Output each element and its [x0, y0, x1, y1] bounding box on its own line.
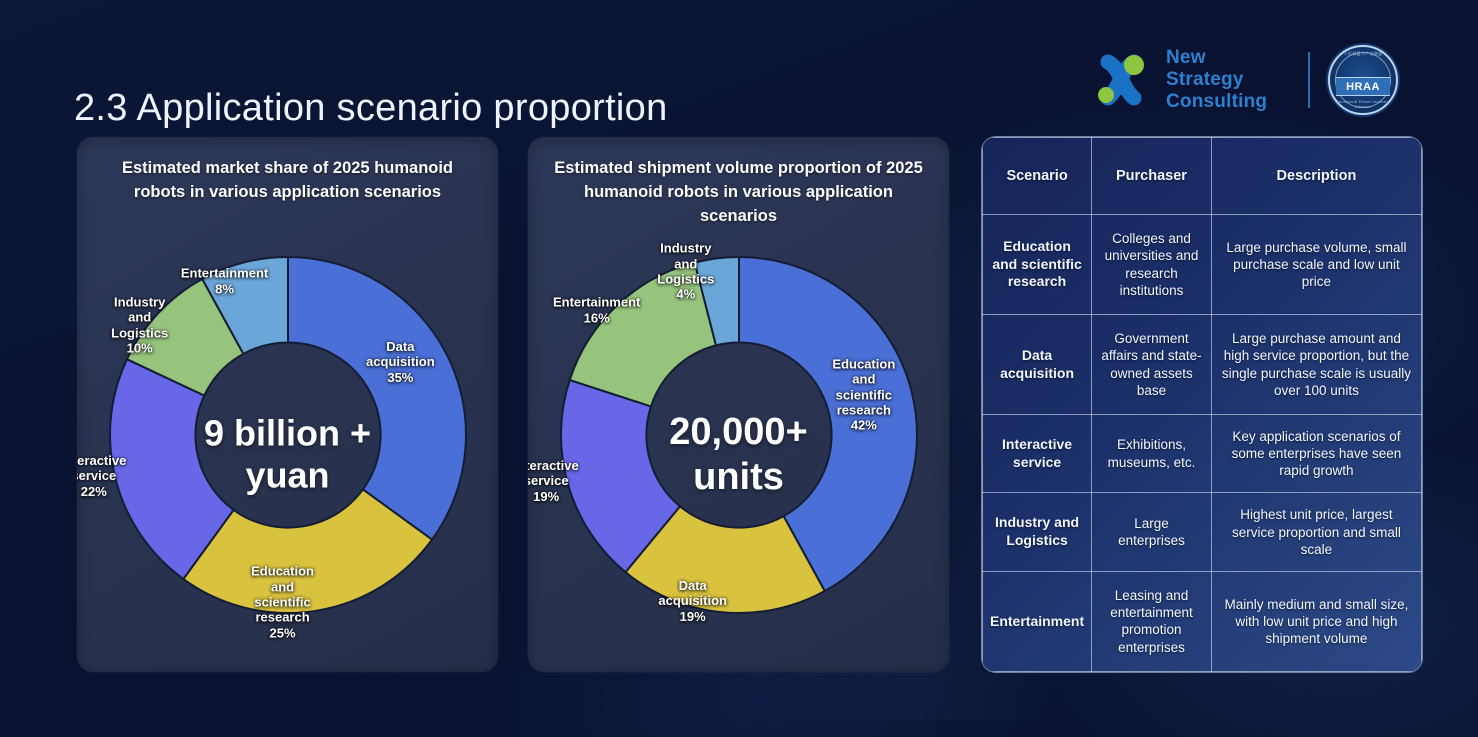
table-row: Interactive serviceExhibitions, museums,…	[983, 415, 1422, 493]
logo-line-2: Consulting	[1166, 91, 1286, 113]
logo-divider	[1308, 52, 1310, 108]
table-header-purchaser: Purchaser	[1092, 138, 1212, 215]
hraa-badge-bottom-text: Humanoid Robot Industry Alliance	[1330, 99, 1396, 109]
cell-scenario: Education and scientific research	[983, 215, 1092, 315]
cell-description: Large purchase amount and high service p…	[1211, 315, 1421, 415]
chart-1-donut-area: 9 billion +yuan Data acquisition 35%Educ…	[77, 255, 498, 655]
scenario-table: Scenario Purchaser Description Education…	[982, 137, 1422, 672]
shipment-volume-donut	[559, 255, 919, 615]
table-header-row: Scenario Purchaser Description	[983, 138, 1422, 215]
market-share-donut	[108, 255, 468, 615]
pie-slice	[569, 263, 715, 407]
shipment-volume-chart-card: Estimated shipment volume proportion of …	[528, 137, 949, 672]
cell-description: Large purchase volume, small purchase sc…	[1211, 215, 1421, 315]
chart-2-donut-area: 20,000+units Education and scientific re…	[528, 255, 949, 655]
hraa-badge-icon: 人形机器人产业联盟 HRAA Humanoid Robot Industry A…	[1328, 45, 1398, 115]
brand-logo: New Strategy Consulting 人形机器人产业联盟 HRAA H…	[1088, 42, 1398, 118]
logo-line-1: New Strategy	[1166, 47, 1286, 91]
cell-description: Key application scenarios of some enterp…	[1211, 415, 1421, 493]
market-share-chart-card: Estimated market share of 2025 humanoid …	[77, 137, 498, 672]
cell-scenario: Interactive service	[983, 415, 1092, 493]
hraa-badge-top-text: 人形机器人产业联盟	[1330, 51, 1396, 57]
table-row: Education and scientific researchCollege…	[983, 215, 1422, 315]
table-row: Industry and LogisticsLarge enterprisesH…	[983, 493, 1422, 571]
cell-purchaser: Large enterprises	[1092, 493, 1212, 571]
table-row: Data acquisitionGovernment affairs and s…	[983, 315, 1422, 415]
cell-description: Mainly medium and small size, with low u…	[1211, 571, 1421, 671]
logo-wordmark: New Strategy Consulting	[1166, 47, 1286, 113]
cell-description: Highest unit price, largest service prop…	[1211, 493, 1421, 571]
new-strategy-logo-icon	[1088, 48, 1152, 112]
cell-scenario: Data acquisition	[983, 315, 1092, 415]
pie-slice	[288, 257, 466, 540]
cell-scenario: Industry and Logistics	[983, 493, 1092, 571]
cell-purchaser: Exhibitions, museums, etc.	[1092, 415, 1212, 493]
chart-2-title: Estimated shipment volume proportion of …	[552, 157, 925, 229]
table-row: EntertainmentLeasing and entertainment p…	[983, 571, 1422, 671]
table-header-description: Description	[1211, 138, 1421, 215]
cell-purchaser: Government affairs and state-owned asset…	[1092, 315, 1212, 415]
cell-purchaser: Colleges and universities and research i…	[1092, 215, 1212, 315]
table-header-scenario: Scenario	[983, 138, 1092, 215]
chart-1-title: Estimated market share of 2025 humanoid …	[101, 157, 474, 205]
cell-scenario: Entertainment	[983, 571, 1092, 671]
page-title: 2.3 Application scenario proportion	[74, 87, 668, 130]
hraa-badge-label: HRAA	[1346, 81, 1380, 93]
cell-purchaser: Leasing and entertainment promotion ente…	[1092, 571, 1212, 671]
